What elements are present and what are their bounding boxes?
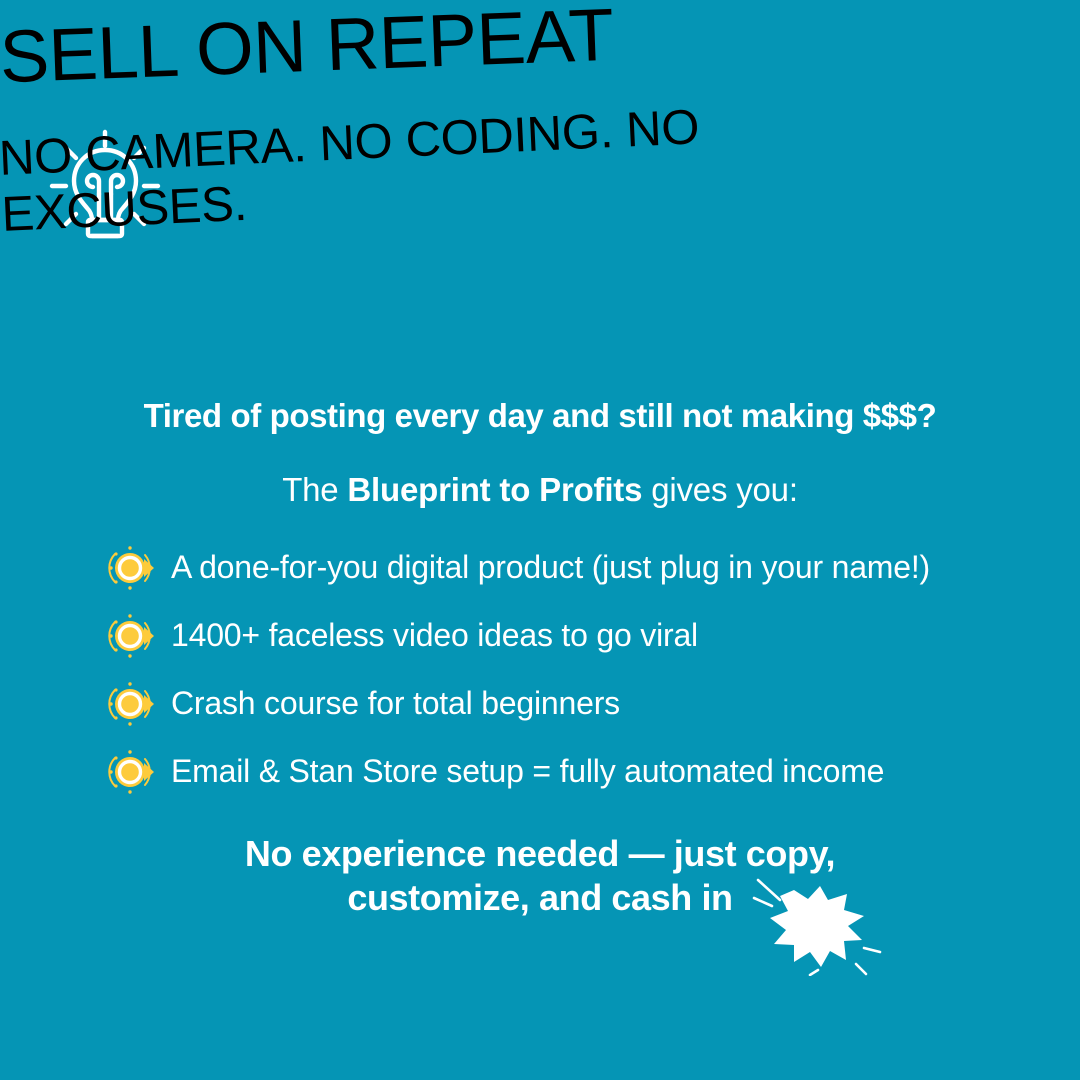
comic-burst-icon [752,872,882,976]
product-name: Blueprint to Profits [347,471,642,508]
sun-burst-bullet-icon [104,678,156,730]
promise-suffix: gives you: [642,471,798,508]
benefit-list: A done-for-you digital product (just plu… [104,534,1024,806]
benefit-label: Email & Stan Store setup = fully automat… [171,754,884,789]
benefit-label: Crash course for total beginners [171,686,620,721]
subhead-block: Tired of posting every day and still not… [0,398,1080,509]
sun-burst-bullet-icon [104,746,156,798]
cta-line-one: No experience needed — just copy, [0,832,1080,876]
promo-poster: SELL ON REPEAT NO CAMERA. NO CODING. NO … [0,0,1080,1080]
promise-prefix: The [282,471,347,508]
hook-question: Tired of posting every day and still not… [0,398,1080,434]
benefit-label: A done-for-you digital product (just plu… [171,550,930,585]
sun-burst-bullet-icon [104,610,156,662]
cta-line-two: customize, and cash in [347,876,732,920]
list-item: A done-for-you digital product (just plu… [104,534,1024,602]
promise-line: The Blueprint to Profits gives you: [0,472,1080,508]
list-item: Email & Stan Store setup = fully automat… [104,738,1024,806]
benefit-label: 1400+ faceless video ideas to go viral [171,618,698,653]
sun-burst-bullet-icon [104,542,156,594]
list-item: Crash course for total beginners [104,670,1024,738]
list-item: 1400+ faceless video ideas to go viral [104,602,1024,670]
cta-block: No experience needed — just copy, custom… [0,832,1080,921]
